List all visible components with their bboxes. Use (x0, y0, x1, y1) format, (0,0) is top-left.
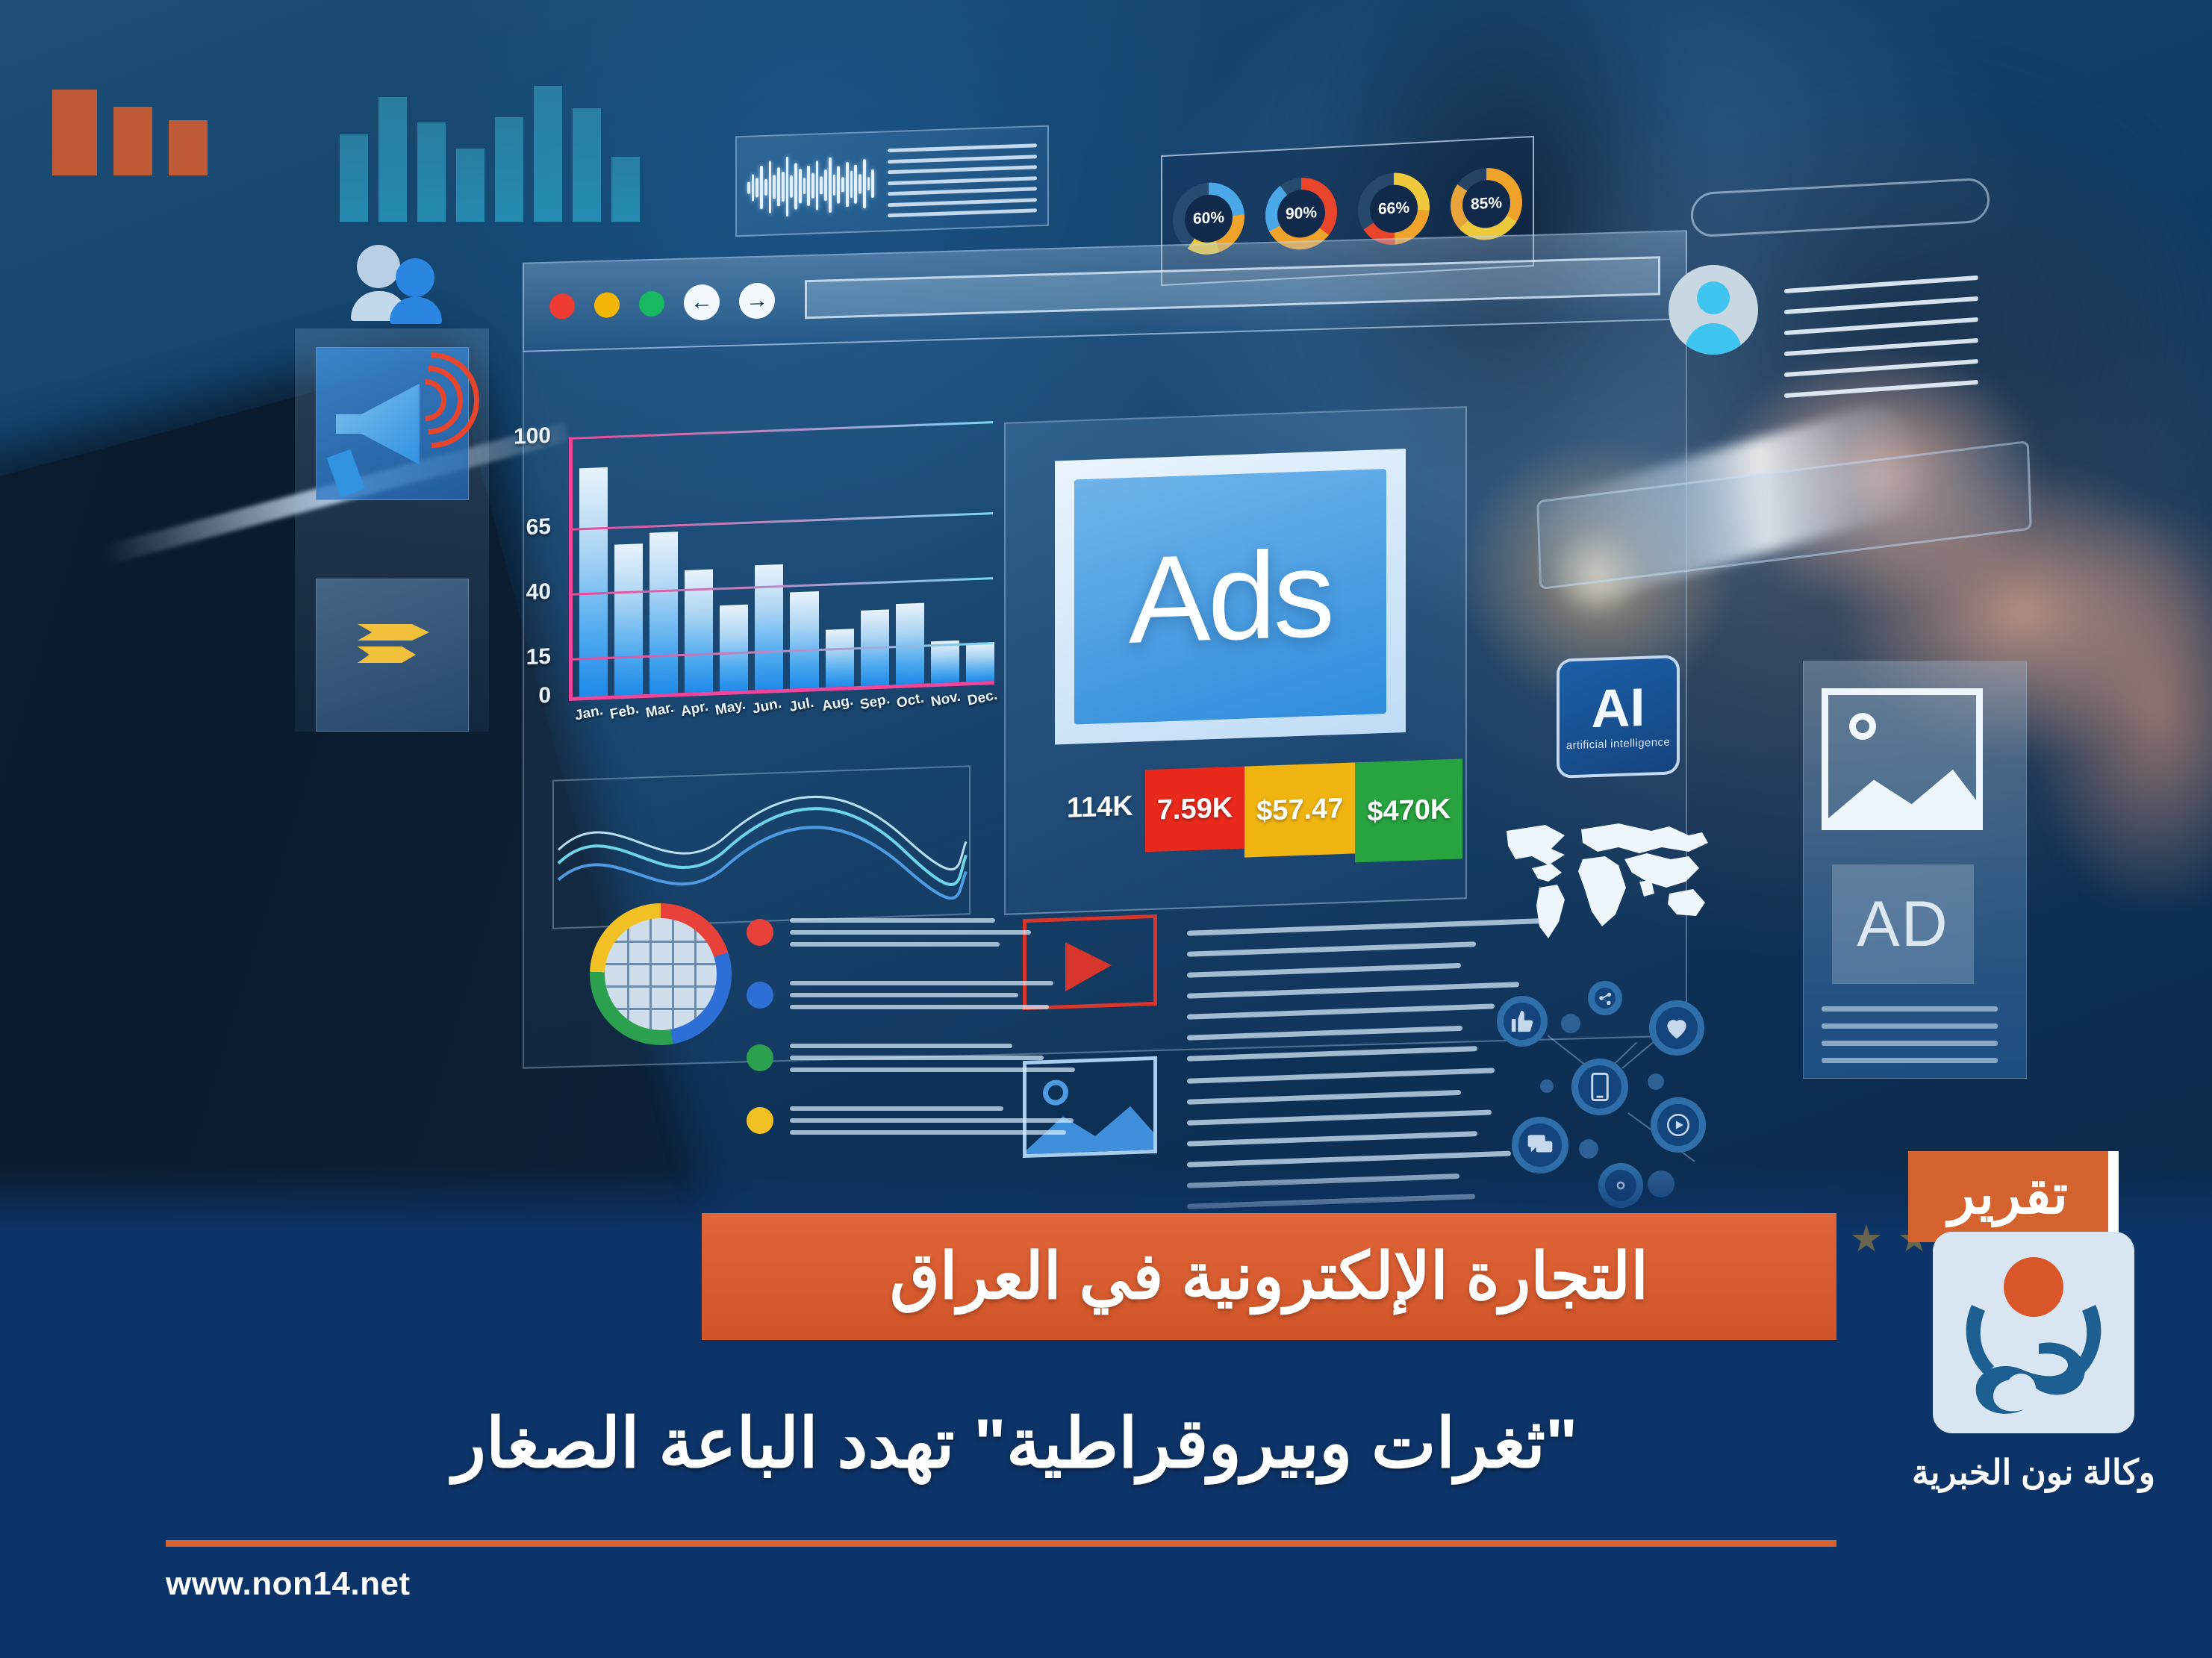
report-badge: تقرير (1908, 1151, 2119, 1242)
list-bullet-dot (747, 982, 773, 1009)
arrow-tile[interactable] (316, 579, 469, 732)
ad-label-box: AD (1832, 864, 1974, 984)
forward-arrow-icon[interactable]: → (739, 282, 775, 319)
logo-figure-mark (1952, 1297, 2115, 1417)
ads-metrics-row: 114K7.59K$57.47$470K (1055, 758, 1462, 873)
list-bullet-dot (747, 1044, 773, 1071)
window-close-dot[interactable] (549, 293, 575, 320)
chart-x-tick: May. (714, 697, 747, 720)
audio-waveform-panel (735, 125, 1049, 237)
mini-chart-bar (340, 134, 368, 222)
mini-chart-bar (378, 97, 407, 222)
agency-logo (1933, 1232, 2134, 1433)
waveform-bar (807, 166, 810, 207)
globe-grid (605, 918, 717, 1030)
chart-bar (790, 591, 818, 688)
url-input[interactable] (805, 256, 1660, 319)
waveform-bar (850, 171, 853, 197)
chart-bar (966, 642, 994, 682)
waveform-bar (752, 174, 755, 202)
audio-waveform-icon (747, 149, 874, 222)
ai-badge-title: AI (1592, 682, 1645, 735)
orange-bar-3 (169, 120, 208, 175)
mini-chart-bar (534, 86, 562, 222)
ads-word-label: Ads (1074, 469, 1386, 725)
chart-bar (931, 641, 959, 683)
mini-chart-bar (611, 157, 640, 222)
left-icon-strip (295, 328, 489, 732)
ads-metric: $470K (1355, 758, 1462, 862)
waveform-bar (837, 166, 840, 203)
heart-icon[interactable] (1649, 1000, 1704, 1056)
text-line (1187, 1131, 1477, 1147)
chart-y-tick: 40 (491, 579, 551, 607)
waveform-bar (841, 178, 844, 192)
chart-x-tick: Nov. (929, 689, 962, 711)
avatar-person-icon (1669, 265, 1758, 355)
orange-bar-1 (52, 90, 97, 175)
profile-text-lines (1784, 275, 1978, 398)
play-icon[interactable] (1651, 1097, 1706, 1153)
waveform-bar (859, 174, 862, 194)
ads-card: Ads 114K7.59K$57.47$470K (1004, 406, 1467, 915)
sine-wave-panel (552, 765, 971, 929)
bulleted-list (747, 918, 1082, 1135)
waveform-bar (769, 160, 772, 214)
ad-image-sun-icon (1849, 713, 1876, 740)
waveform-bar (867, 177, 870, 190)
mini-chart-bar (495, 117, 523, 222)
chart-x-tick: Jan. (573, 702, 604, 725)
waveform-bar (820, 176, 823, 195)
window-maximize-dot[interactable] (639, 290, 664, 317)
list-item (747, 981, 1082, 1009)
list-item-lines (790, 981, 1082, 1009)
mini-chart-bar (417, 122, 446, 222)
window-minimize-dot[interactable] (594, 292, 620, 318)
users-icon (357, 239, 469, 321)
waveform-bar (794, 163, 797, 210)
chart-x-tick: Jul. (787, 694, 816, 716)
ad-image-placeholder-icon (1822, 688, 1983, 830)
list-item (747, 1106, 1082, 1135)
list-item-lines (790, 1106, 1082, 1135)
waveform-bar (747, 182, 750, 194)
chart-x-tick: Oct. (896, 691, 926, 712)
kpi-gauge: 66% (1358, 171, 1430, 246)
waveform-bar (760, 166, 763, 209)
avatar (1669, 265, 1758, 355)
waveform-bar (811, 173, 814, 199)
headline-title-band: التجارة الإلكترونية في العراق (702, 1213, 1836, 1340)
waveform-bar (777, 168, 780, 206)
waveform-bar (824, 169, 827, 201)
user-head-1 (357, 245, 400, 288)
globe-icon (590, 903, 732, 1045)
list-item-lines (790, 1044, 1082, 1072)
ai-badge-subtitle: artificial intelligence (1566, 735, 1670, 752)
mobile-icon[interactable] (1571, 1059, 1628, 1115)
waveform-bar (799, 169, 802, 203)
yellow-arrow-icon (358, 624, 429, 676)
waveform-bar (803, 178, 806, 195)
text-lines-block (888, 143, 1037, 217)
list-item (747, 918, 1082, 947)
kpi-gauge-value: 85% (1462, 178, 1510, 228)
list-item-lines (790, 918, 1082, 947)
waveform-bar (790, 175, 793, 198)
text-line (1187, 1026, 1462, 1041)
ad-panel-text-lines (1822, 1006, 1998, 1063)
megaphone-tile[interactable] (316, 347, 469, 500)
world-map-icon (1493, 810, 1717, 959)
chart-x-tick: Aug. (820, 693, 854, 715)
waveform-bar (764, 179, 767, 195)
waveform-bar (871, 169, 874, 198)
waveform-bar (846, 162, 849, 207)
user-head-2 (396, 258, 434, 297)
list-bullet-dot (747, 1107, 773, 1134)
chart-bar (896, 603, 924, 685)
page-title: التجارة الإلكترونية في العراق (890, 1239, 1648, 1314)
waveform-bar (782, 172, 785, 202)
chart-y-tick: 0 (491, 683, 551, 711)
waveform-bar (816, 161, 819, 210)
mini-chart-bar (456, 149, 485, 222)
ads-preview-frame: Ads (1055, 449, 1406, 744)
kpi-gauge: 85% (1451, 166, 1522, 241)
monthly-bar-chart: Jan.Feb.Mar.Apr.May.Jun.Jul.Aug.Sep.Oct.… (515, 401, 1008, 770)
kpi-gauge-value: 66% (1370, 184, 1418, 234)
ai-badge: AI artificial intelligence (1557, 655, 1680, 779)
chart-x-tick: Jun. (751, 696, 782, 718)
waveform-bar (786, 157, 789, 216)
chart-x-tick: Mar. (644, 699, 675, 722)
ad-sidebar-panel: AD (1803, 661, 2027, 1079)
back-arrow-icon[interactable]: ← (684, 284, 720, 320)
ad-image-mountain-icon (1822, 759, 1983, 823)
megaphone-handle (326, 449, 364, 497)
waveform-bar (854, 164, 857, 204)
chart-y-tick: 65 (491, 514, 551, 542)
site-url-label: www.non14.net (166, 1565, 411, 1603)
orange-bar-2 (113, 107, 152, 175)
list-item (747, 1044, 1082, 1072)
kpi-gauge-value: 60% (1185, 193, 1233, 243)
ads-metric: $57.47 (1244, 762, 1355, 857)
agency-name-label: وكالة نون الخبرية (1858, 1452, 2209, 1492)
chart-bar (720, 605, 748, 691)
chart-y-tick: 100 (491, 423, 551, 451)
waveform-bar (755, 178, 758, 198)
mini-chart-bar (573, 108, 601, 222)
chart-bar (755, 564, 783, 690)
chart-bar (826, 629, 854, 688)
share-icon[interactable] (1588, 981, 1622, 1015)
orange-divider (166, 1540, 1836, 1547)
waveform-bar (773, 175, 776, 199)
kpi-gauge-value: 90% (1277, 188, 1325, 238)
text-line (1187, 941, 1476, 957)
sine-wave-icon (554, 767, 969, 927)
text-line (1187, 1109, 1492, 1125)
chart-x-tick: Apr. (679, 699, 709, 720)
waveform-bar (863, 159, 866, 209)
poster-canvas: 60%90%66%85% ← → Jan.Feb.Mar.Apr.May.Jun… (0, 0, 2212, 1658)
avatar-head (1697, 281, 1730, 314)
text-line (1187, 1090, 1461, 1105)
text-line (1187, 1003, 1495, 1019)
text-line (1187, 963, 1461, 978)
waveform-bar (829, 158, 832, 213)
chart-bar (579, 467, 608, 697)
headline-subtitle: "ثغرات وبيروقراطية" تهدد الباعة الصغار (224, 1403, 1807, 1483)
list-bullet-dot (747, 919, 773, 946)
chart-x-tick: Sep. (859, 691, 891, 714)
chart-x-tick: Feb. (608, 701, 640, 723)
ads-metric: 114K (1055, 770, 1145, 844)
chart-bar (649, 532, 678, 694)
mini-bar-chart (340, 86, 640, 222)
chart-y-tick: 15 (491, 644, 551, 672)
waveform-bar (833, 175, 836, 196)
chart-bar (614, 543, 643, 695)
orange-bars-logo (52, 90, 208, 175)
chart-x-tick: Dec. (966, 688, 998, 710)
avatar-body (1685, 323, 1742, 355)
thumbs-up-icon[interactable] (1497, 996, 1548, 1047)
star-icon-1 (1851, 1224, 1881, 1254)
ads-metric: 7.59K (1145, 767, 1244, 853)
text-line (1187, 982, 1519, 999)
